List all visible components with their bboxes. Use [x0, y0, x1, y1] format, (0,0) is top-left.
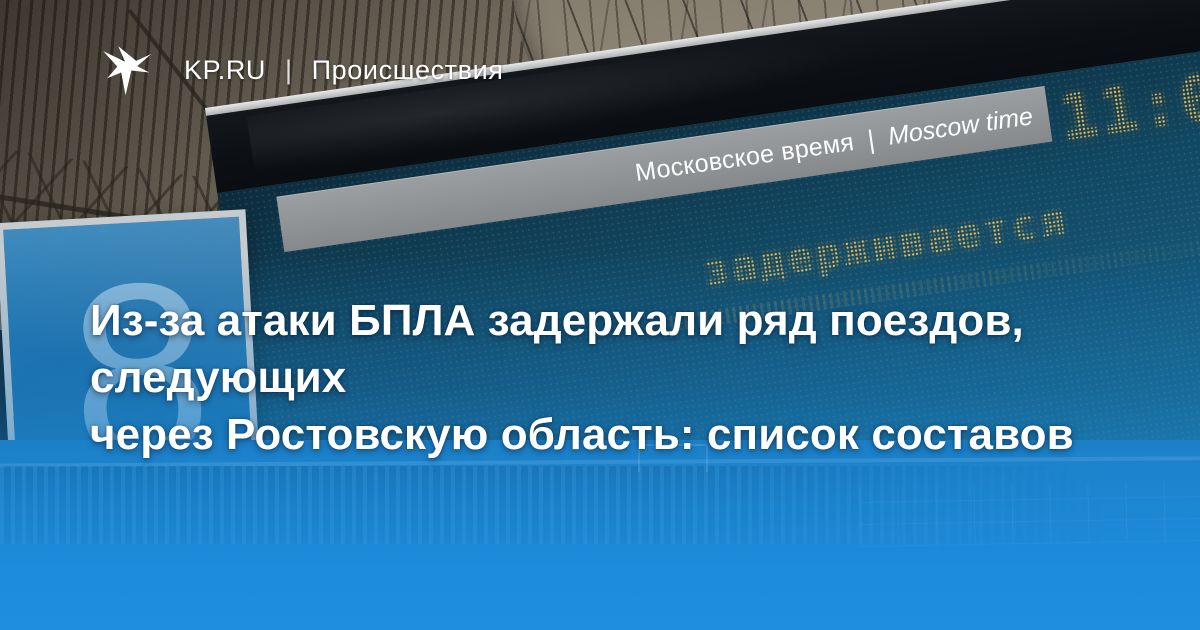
station-platform: [0, 440, 1200, 630]
category-label[interactable]: Происшествия: [312, 55, 504, 86]
brand-name[interactable]: KP.RU: [184, 55, 266, 86]
swallow-bird-logo-icon[interactable]: [96, 40, 158, 102]
headline-text: Из-за атаки БПЛА задержали ряд поездов, …: [90, 292, 1100, 464]
brand-line: KP.RU | Происшествия: [184, 55, 503, 86]
brand-separator: |: [285, 55, 293, 86]
share-card: Московское время | Moscow time 11:00 зад…: [0, 0, 1200, 630]
header-bar: KP.RU | Происшествия: [0, 0, 1200, 140]
platform-grid-panels: [860, 481, 1200, 547]
